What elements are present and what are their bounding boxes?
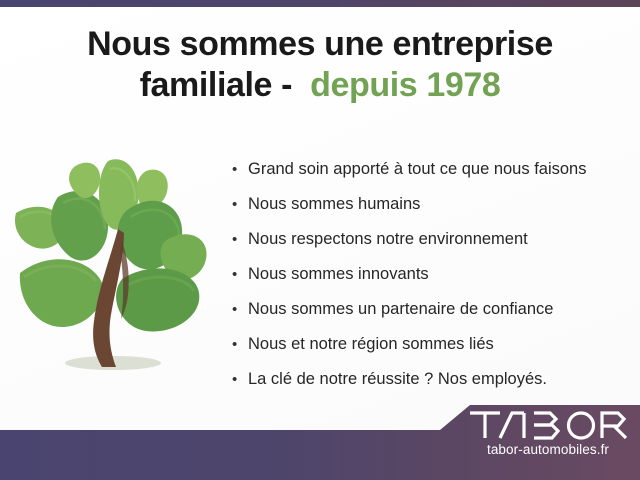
list-item: • La clé de notre réussite ? Nos employé… xyxy=(230,362,630,397)
list-item: • Nous sommes innovants xyxy=(230,257,630,292)
slide-canvas: Nous sommes une entreprise familiale - d… xyxy=(0,0,640,480)
footer-bar: tabor-automobiles.fr xyxy=(0,400,640,480)
page-title: Nous sommes une entreprise familiale - d… xyxy=(0,24,640,106)
list-item-label: Nous sommes un partenaire de confiance xyxy=(248,300,553,318)
bullet-marker-icon: • xyxy=(232,257,237,292)
list-item-label: Nous sommes innovants xyxy=(248,265,429,283)
brand-logo[interactable]: tabor-automobiles.fr xyxy=(468,409,640,457)
bullet-marker-icon: • xyxy=(232,187,237,222)
list-item-label: Nous et notre région sommes liés xyxy=(248,335,494,353)
bullet-marker-icon: • xyxy=(232,292,237,327)
list-item: • Nous sommes un partenaire de confiance xyxy=(230,292,630,327)
headline-line-2-plain: familiale - xyxy=(140,66,311,104)
headline-accent-since-1978: depuis 1978 xyxy=(310,66,500,104)
list-item: • Nous sommes humains xyxy=(230,187,630,222)
list-item: • Nous et notre région sommes liés xyxy=(230,327,630,362)
value-bullet-list: • Grand soin apporté à tout ce que nous … xyxy=(230,152,630,397)
top-accent-bar xyxy=(0,0,640,7)
list-item-label: La clé de notre réussite ? Nos employés. xyxy=(248,370,547,388)
list-item: • Nous respectons notre environnement xyxy=(230,222,630,257)
bullet-marker-icon: • xyxy=(232,222,237,257)
family-tree-illustration xyxy=(12,155,217,380)
list-item: • Grand soin apporté à tout ce que nous … xyxy=(230,152,630,187)
bullet-marker-icon: • xyxy=(232,327,237,362)
brand-tagline: tabor-automobiles.fr xyxy=(468,442,628,457)
list-item-label: Nous respectons notre environnement xyxy=(248,230,528,248)
list-item-label: Nous sommes humains xyxy=(248,195,420,213)
list-item-label: Grand soin apporté à tout ce que nous fa… xyxy=(248,160,586,178)
headline-line-2: familiale - depuis 1978 xyxy=(0,65,640,106)
bullet-marker-icon: • xyxy=(232,152,237,187)
brand-wordmark-tabor xyxy=(468,409,628,440)
leaf-lower-left xyxy=(20,259,103,327)
bullet-marker-icon: • xyxy=(232,362,237,397)
headline-line-1: Nous sommes une entreprise xyxy=(0,24,640,65)
